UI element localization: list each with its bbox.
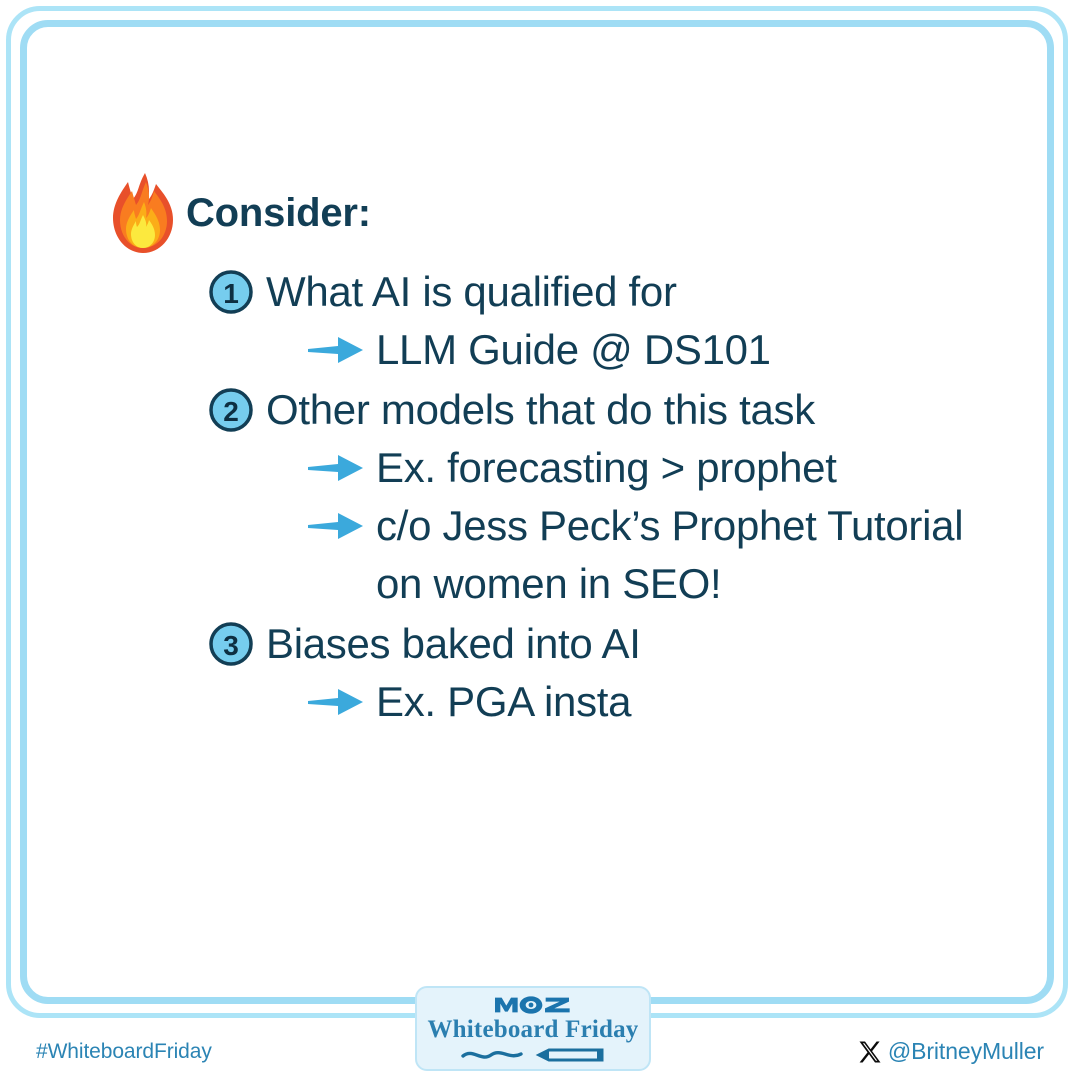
sub-item-2-2: c/o Jess Peck’s Prophet Tutorial: [0, 497, 1080, 555]
sub-item-2-2-text: c/o Jess Peck’s Prophet Tutorial: [376, 502, 963, 550]
hashtag-label: #WhiteboardFriday: [36, 1040, 212, 1064]
sub-item-2-1: Ex. forecasting > prophet: [0, 439, 1080, 497]
moz-wordmark-icon: [474, 995, 592, 1015]
social-handle[interactable]: @BritneyMuller: [858, 1038, 1044, 1065]
whiteboard-friday-slide: Consider: 1 What AI is qualified for LLM…: [0, 0, 1080, 1080]
whiteboard-friday-label: Whiteboard Friday: [427, 1016, 638, 1044]
right-arrow-icon: [308, 687, 364, 717]
numbered-item-3-text: Biases baked into AI: [266, 620, 641, 668]
x-twitter-icon[interactable]: [858, 1040, 882, 1064]
numbered-item-1: 1 What AI is qualified for: [0, 263, 1080, 321]
right-arrow-icon: [308, 453, 364, 483]
sub-item-1-1-text: LLM Guide @ DS101: [376, 326, 771, 374]
number-badge-1: 1: [208, 269, 254, 315]
numbered-item-3: 3 Biases baked into AI: [0, 615, 1080, 673]
number-badge-2: 2: [208, 387, 254, 433]
right-arrow-icon: [308, 511, 364, 541]
right-arrow-icon: [308, 335, 364, 365]
sub-item-3-1-text: Ex. PGA insta: [376, 678, 631, 726]
numbered-item-1-text: What AI is qualified for: [266, 268, 677, 316]
marker-squiggle-icon: [459, 1046, 607, 1069]
slide-content: Consider: 1 What AI is qualified for LLM…: [0, 165, 1080, 731]
sub-item-3-1: Ex. PGA insta: [0, 673, 1080, 731]
number-badge-3: 3: [208, 621, 254, 667]
numbered-item-2: 2 Other models that do this task: [0, 381, 1080, 439]
number-badge-1-label: 1: [223, 278, 239, 309]
heading-row: Consider:: [0, 165, 1080, 261]
social-handle-text: @BritneyMuller: [888, 1038, 1044, 1065]
heading-text: Consider:: [186, 191, 371, 236]
sub-item-2-1-text: Ex. forecasting > prophet: [376, 444, 837, 492]
fire-emoji-icon: [112, 172, 174, 254]
number-badge-2-label: 2: [223, 396, 239, 427]
numbered-item-2-text: Other models that do this task: [266, 386, 815, 434]
moz-whiteboard-friday-logo: Whiteboard Friday: [415, 986, 651, 1071]
sub-item-1-1: LLM Guide @ DS101: [0, 321, 1080, 379]
sub-item-2-2-continuation-text: on women in SEO!: [376, 560, 721, 608]
sub-item-2-2-continuation: on women in SEO!: [0, 555, 1080, 613]
number-badge-3-label: 3: [223, 630, 239, 661]
